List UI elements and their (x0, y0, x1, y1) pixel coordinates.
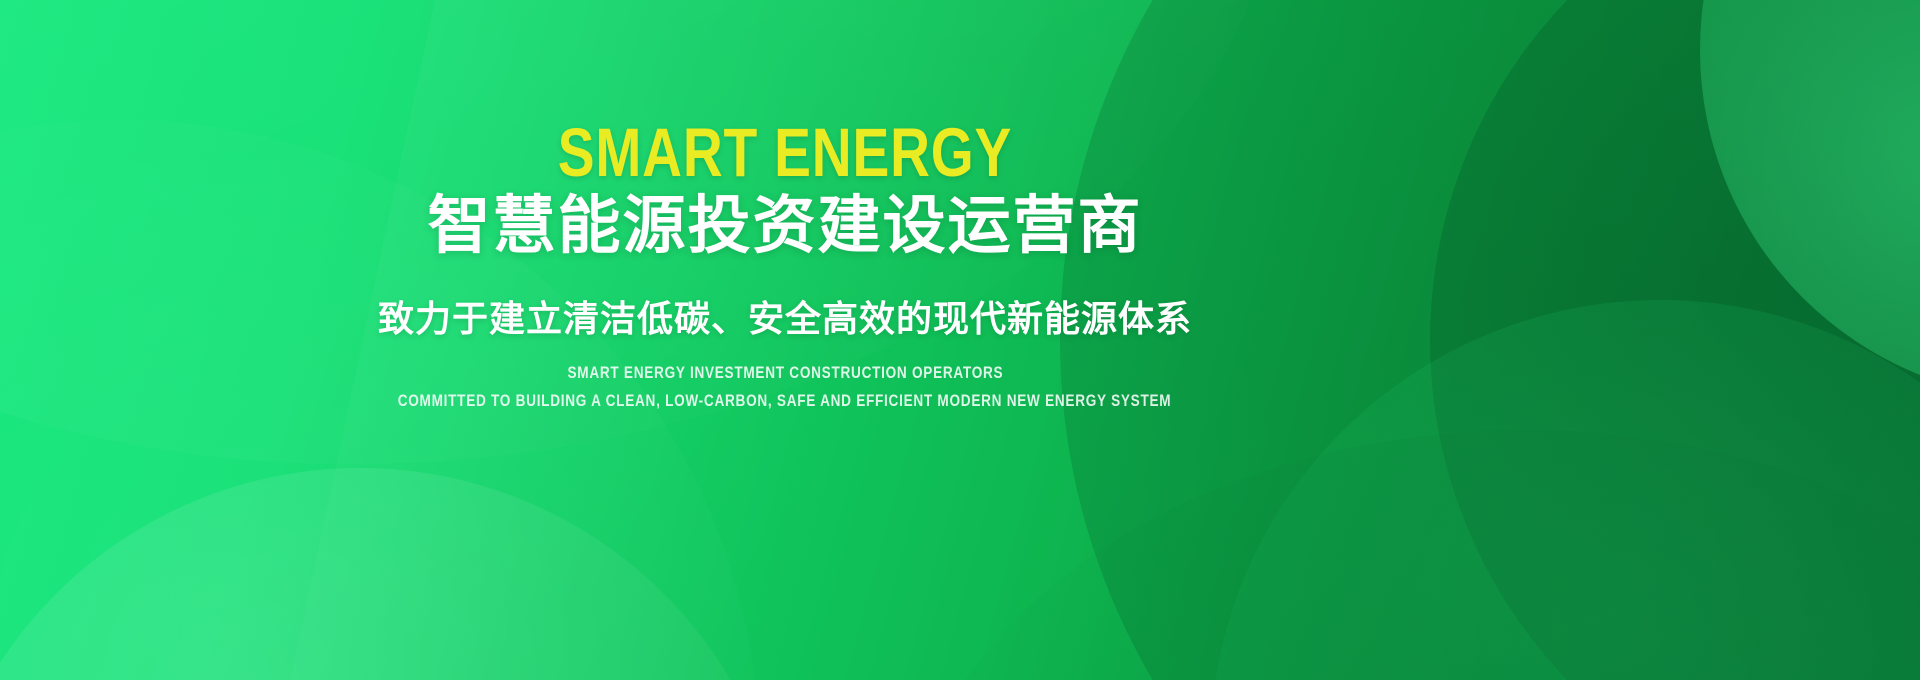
banner-subheadline-english-line1: SMART ENERGY INVESTMENT CONSTRUCTION OPE… (567, 364, 1003, 381)
decor-top-right-bright-circle (1700, 0, 1920, 400)
hero-banner: SMART ENERGY 智慧能源投资建设运营商 致力于建立清洁低碳、安全高效的… (0, 0, 1920, 680)
banner-subheadline-english-line2: COMMITTED TO BUILDING A CLEAN, LOW-CARBO… (398, 392, 1172, 409)
banner-content: SMART ENERGY 智慧能源投资建设运营商 致力于建立清洁低碳、安全高效的… (0, 0, 1570, 680)
banner-headline-chinese: 智慧能源投资建设运营商 (428, 193, 1143, 260)
banner-subheadline-chinese: 致力于建立清洁低碳、安全高效的现代新能源体系 (378, 297, 1192, 340)
banner-headline-english: SMART ENERGY (558, 118, 1012, 187)
